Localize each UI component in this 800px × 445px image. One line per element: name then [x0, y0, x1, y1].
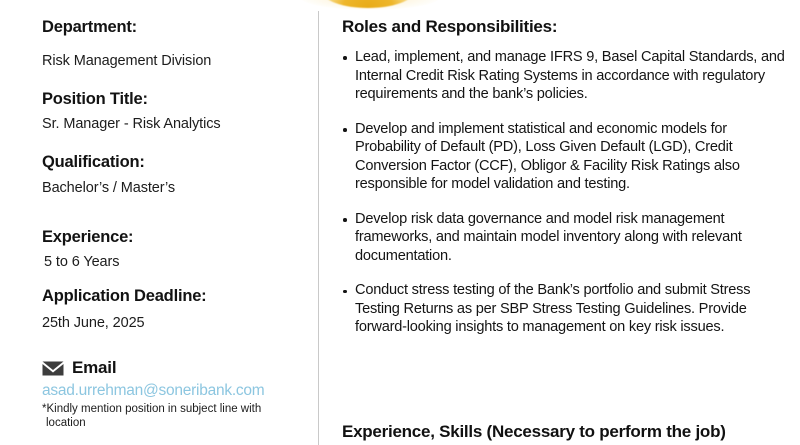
- email-address-link[interactable]: asad.urrehman@soneribank.com: [42, 382, 312, 399]
- field-value-application-deadline: 25th June, 2025: [42, 315, 145, 332]
- bullet-dot-icon: [343, 128, 347, 132]
- email-note-line-2: location: [42, 416, 297, 430]
- email-heading-row: Email: [42, 358, 312, 378]
- field-value-position-title: Sr. Manager - Risk Analytics: [42, 116, 221, 133]
- field-label-application-deadline: Application Deadline:: [42, 287, 206, 306]
- field-label-position-title: Position Title:: [42, 90, 148, 109]
- email-note-line-1: *Kindly mention position in subject line…: [42, 403, 261, 415]
- envelope-icon: [42, 361, 64, 376]
- job-posting-poster: Department: Risk Management Division Pos…: [0, 0, 800, 445]
- list-item-text: Lead, implement, and manage IFRS 9, Base…: [355, 49, 785, 102]
- roles-and-responsibilities-heading: Roles and Responsibilities:: [342, 17, 557, 37]
- field-label-department: Department:: [42, 18, 137, 37]
- email-block: Email asad.urrehman@soneribank.com *Kind…: [42, 358, 312, 430]
- list-item-text: Conduct stress testing of the Bank’s por…: [355, 282, 750, 335]
- list-item-text: Develop risk data governance and model r…: [355, 211, 742, 264]
- field-label-qualification: Qualification:: [42, 153, 145, 172]
- email-heading-label: Email: [72, 358, 116, 378]
- bullet-dot-icon: [343, 290, 347, 294]
- bullet-dot-icon: [343, 56, 347, 60]
- column-divider: [318, 11, 319, 445]
- email-note: *Kindly mention position in subject line…: [42, 402, 297, 430]
- list-item: Develop and implement statistical and ec…: [342, 120, 794, 194]
- list-item-text: Develop and implement statistical and ec…: [355, 121, 740, 193]
- field-label-experience: Experience:: [42, 228, 133, 247]
- responsibilities-list: Lead, implement, and manage IFRS 9, Base…: [342, 48, 794, 337]
- field-value-qualification: Bachelor’s / Master’s: [42, 180, 175, 197]
- list-item: Conduct stress testing of the Bank’s por…: [342, 281, 794, 337]
- list-item: Develop risk data governance and model r…: [342, 210, 794, 266]
- list-item: Lead, implement, and manage IFRS 9, Base…: [342, 48, 794, 104]
- experience-skills-heading: Experience, Skills (Necessary to perform…: [342, 422, 726, 442]
- field-value-experience: 5 to 6 Years: [44, 254, 119, 271]
- bullet-dot-icon: [343, 218, 347, 222]
- field-value-department: Risk Management Division: [42, 53, 211, 70]
